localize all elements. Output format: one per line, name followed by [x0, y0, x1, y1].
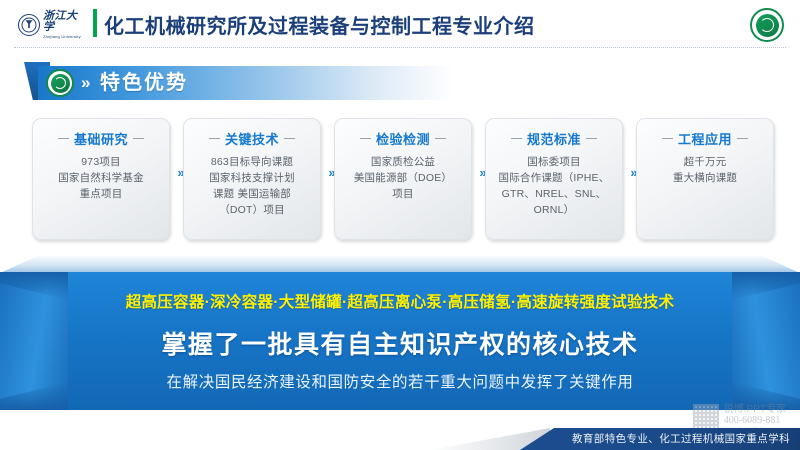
card-title-row: 基础研究: [40, 129, 162, 148]
card-dash-left-icon: [662, 138, 673, 140]
card-title-row: 规范标准: [493, 129, 615, 148]
banner-right-fold-shape: [732, 272, 800, 410]
card-title-row: 检验检测: [342, 129, 464, 148]
banner-subline: 在解决国民经济建设和国防安全的若干重大问题中发挥了关键作用: [167, 370, 634, 392]
card-dash-right-icon: [284, 138, 295, 140]
banner-headline: 掌握了一批具有自主知识产权的核心技术: [161, 325, 638, 361]
card-body: 863目标导向课题国家科技支撑计划课题 美国运输部（DOT）项目: [191, 154, 313, 218]
slide-header: 浙江大学 Zhejiang University 化工机械研究所及过程装备与控制…: [0, 0, 800, 50]
university-seal-icon: [18, 14, 40, 36]
section-title: 特色优势: [100, 70, 188, 96]
banner-left-fold-shape: [0, 272, 68, 410]
card-dash-left-icon: [511, 138, 522, 140]
card-title-row: 关键技术: [191, 129, 313, 148]
card-body: 超千万元重大横向课题: [644, 154, 766, 186]
card-title: 规范标准: [527, 129, 581, 148]
card-basic-research[interactable]: 基础研究 973项目国家自然科学基金重点项目: [32, 118, 170, 240]
card-title: 工程应用: [678, 129, 732, 148]
banner-top-fold-shape: [0, 255, 800, 273]
card-body: 973项目国家自然科学基金重点项目: [40, 154, 162, 202]
card-dash-right-icon: [737, 138, 748, 140]
university-name-en: Zhejiang University: [43, 35, 86, 39]
institute-logo-inner: [756, 14, 779, 37]
header-divider: [93, 9, 97, 37]
card-dash-right-icon: [586, 138, 597, 140]
advantage-card-row: 基础研究 973项目国家自然科学基金重点项目 » 关键技术 863目标导向课题国…: [32, 118, 772, 240]
section-title-ribbon: » 特色优势: [24, 66, 454, 100]
card-title: 检验检测: [376, 129, 430, 148]
card-engineering-application[interactable]: 工程应用 超千万元重大横向课题: [636, 118, 774, 240]
card-dash-left-icon: [360, 138, 371, 140]
card-body: 国家质检公益美国能源部（DOE）项目: [342, 154, 464, 202]
slide-canvas: 浙江大学 Zhejiang University 化工机械研究所及过程装备与控制…: [0, 0, 800, 450]
card-body: 国标委项目国际合作课题（IPHE、GTR、NREL、SNL、ORNL）: [493, 154, 615, 218]
page-title: 化工机械研究所及过程装备与控制工程专业介绍: [104, 10, 535, 39]
university-wordmark: 浙江大学 Zhejiang University: [43, 11, 86, 39]
banner-technology-list: 超高压容器·深冷容器·大型储罐·超高压离心泵·高压储氢·高速旋转强度试验技术: [126, 290, 675, 312]
institute-logo-icon: [750, 8, 784, 42]
banner-content: 超高压容器·深冷容器·大型储罐·超高压离心泵·高压储氢·高速旋转强度试验技术 掌…: [68, 272, 732, 410]
card-key-technology[interactable]: 关键技术 863目标导向课题国家科技支撑计划课题 美国运输部（DOT）项目: [183, 118, 321, 240]
chevron-right-icon: »: [81, 74, 90, 92]
card-title: 基础研究: [74, 129, 128, 148]
card-inspection-testing[interactable]: 检验检测 国家质检公益美国能源部（DOE）项目: [334, 118, 472, 240]
card-dash-left-icon: [209, 138, 220, 140]
footer-caption: 教育部特色专业、化工过程机械国家重点学科: [572, 431, 790, 446]
qr-code-icon: [693, 404, 719, 430]
watermark-phone: 400-6089-881: [724, 415, 786, 426]
card-title: 关键技术: [225, 129, 279, 148]
zhejiang-university-logo: 浙江大学 Zhejiang University: [18, 12, 86, 38]
card-dash-left-icon: [58, 138, 69, 140]
header-dotted-rule: [14, 47, 786, 48]
ribbon-institute-logo-icon: [46, 69, 74, 97]
highlight-banner: 超高压容器·深冷容器·大型储罐·超高压离心泵·高压储氢·高速旋转强度试验技术 掌…: [0, 255, 800, 410]
university-name-cn: 浙江大学: [43, 11, 86, 33]
ribbon-logo-inner: [51, 74, 70, 93]
card-standards[interactable]: 规范标准 国标委项目国际合作课题（IPHE、GTR、NREL、SNL、ORNL）: [485, 118, 623, 240]
card-dash-right-icon: [133, 138, 144, 140]
watermark-brand: 锐博.PPT专家: [724, 404, 786, 415]
card-title-row: 工程应用: [644, 129, 766, 148]
card-dash-right-icon: [435, 138, 446, 140]
